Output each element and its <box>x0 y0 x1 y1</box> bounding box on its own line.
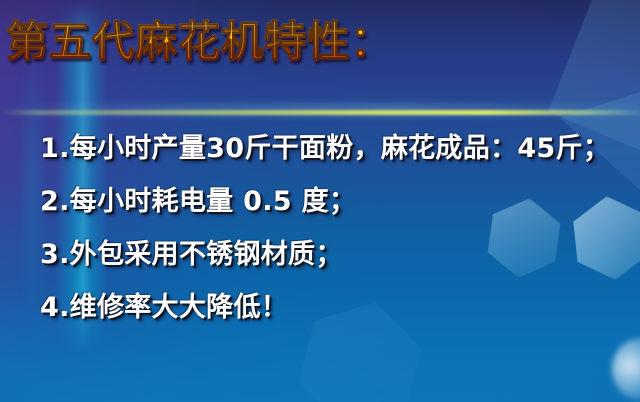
list-item: 4.维修率大大降低！ <box>40 281 640 334</box>
page-title: 第五代麻花机特性： <box>6 18 393 66</box>
feature-list: 1.每小时产量30斤干面粉，麻花成品：45斤； 2.每小时耗电量 0.5 度； … <box>40 122 640 334</box>
list-item: 3.外包采用不锈钢材质； <box>40 228 640 281</box>
slide-canvas: 第五代麻花机特性： 1.每小时产量30斤干面粉，麻花成品：45斤； 2.每小时耗… <box>0 0 640 402</box>
slide-content: 第五代麻花机特性： 1.每小时产量30斤干面粉，麻花成品：45斤； 2.每小时耗… <box>0 0 640 402</box>
list-item: 1.每小时产量30斤干面粉，麻花成品：45斤； <box>40 122 640 175</box>
list-item: 2.每小时耗电量 0.5 度； <box>40 175 640 228</box>
